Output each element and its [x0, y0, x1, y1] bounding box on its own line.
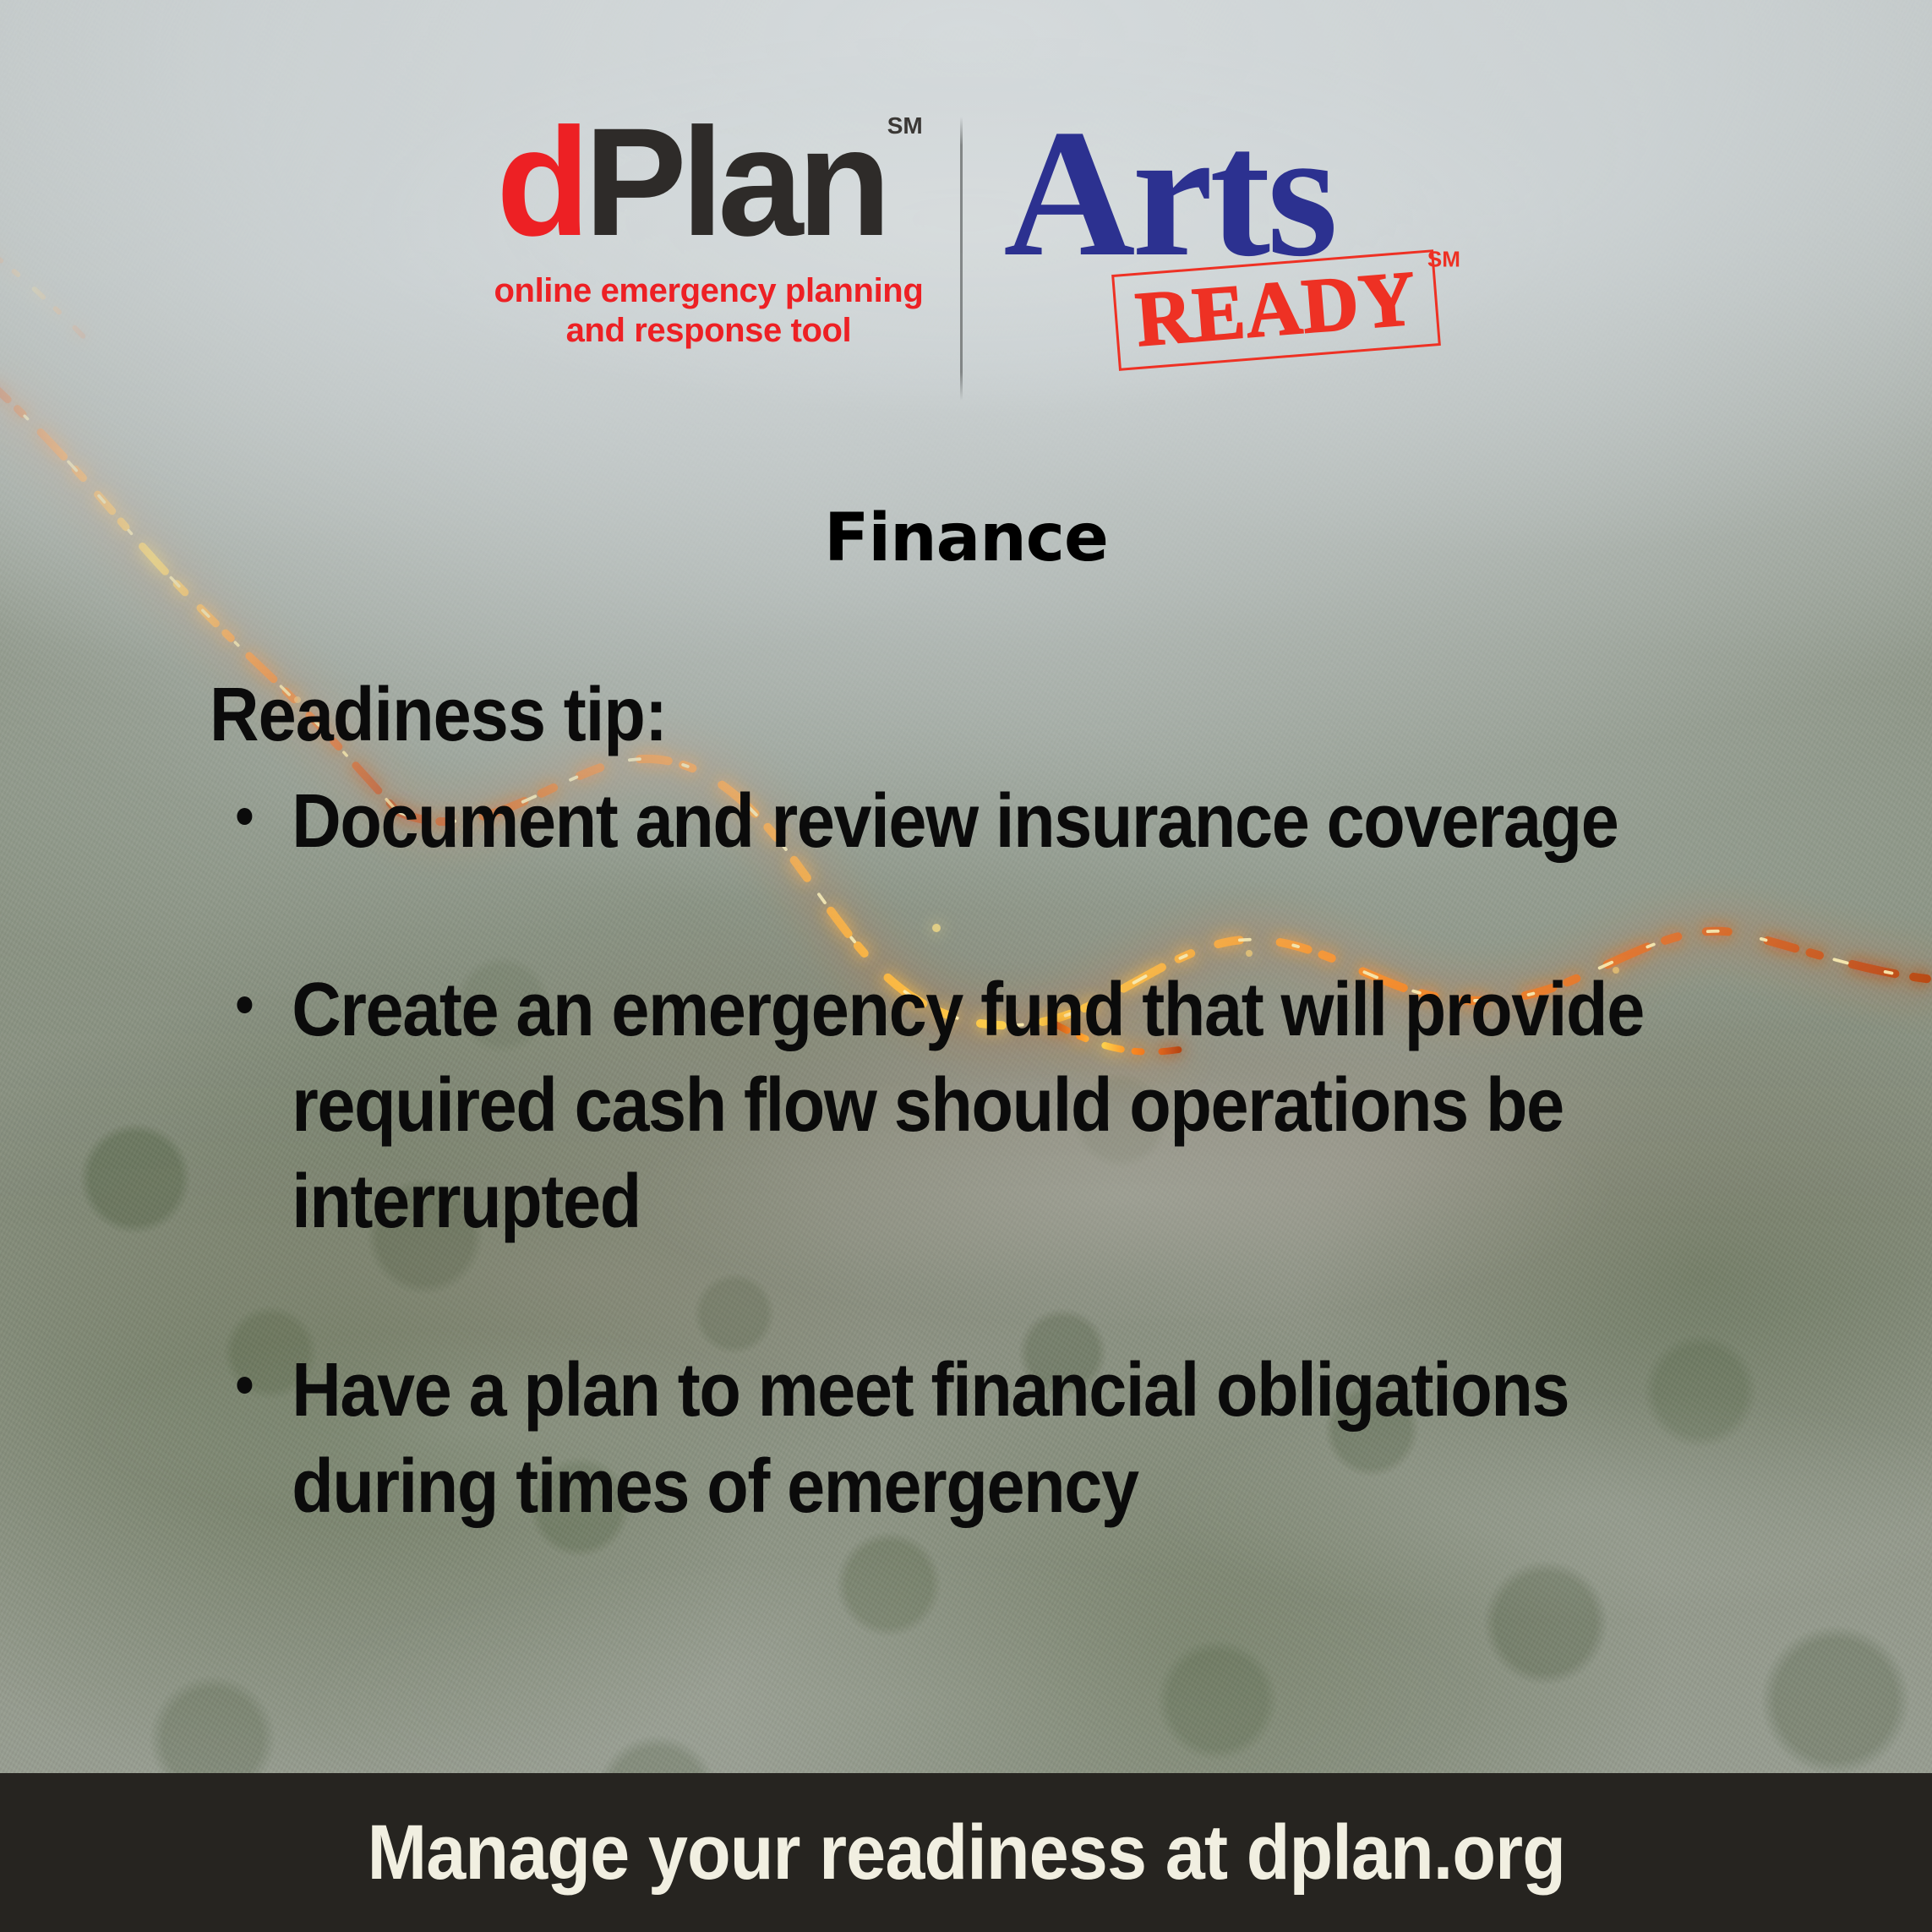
arts-wordmark: Arts — [1003, 112, 1438, 276]
dplan-letter-d: d — [496, 96, 584, 268]
readiness-tip-heading: Readiness tip: — [210, 676, 1668, 756]
dplan-wordmark: dPlanSM — [496, 108, 921, 256]
list-item: Create an emergency fund that will provi… — [210, 963, 1668, 1250]
dplan-tagline-line-2: and response tool — [494, 311, 924, 351]
tip-text: Create an emergency fund that will provi… — [292, 968, 1644, 1244]
readiness-tip-section: Readiness tip: Document and review insur… — [210, 676, 1831, 1535]
dplan-letters-plan: Plan — [584, 96, 885, 268]
list-item: Document and review insurance coverage — [210, 774, 1668, 870]
artsready-logo: Arts READY SM — [963, 108, 1438, 358]
dplan-tagline: online emergency planning and response t… — [494, 271, 924, 351]
dplan-logo: dPlanSM online emergency planning and re… — [494, 108, 961, 351]
list-item: Have a plan to meet financial obligation… — [210, 1343, 1668, 1535]
dplan-tagline-line-1: online emergency planning — [494, 271, 924, 311]
footer-bar: Manage your readiness at dplan.org — [0, 1773, 1932, 1932]
ready-wordmark: READY — [1133, 259, 1419, 359]
tip-text: Document and review insurance coverage — [292, 779, 1618, 864]
artsready-service-mark-icon: SM — [1427, 247, 1460, 273]
dplan-service-mark-icon: SM — [887, 112, 923, 139]
footer-cta-text: Manage your readiness at dplan.org — [367, 1809, 1564, 1897]
logo-lockup-row: dPlanSM online emergency planning and re… — [0, 108, 1932, 401]
tip-list: Document and review insurance coverage C… — [210, 774, 1831, 1535]
page-title: Finance — [0, 500, 1932, 576]
bullet-icon — [237, 808, 252, 825]
bullet-icon — [237, 1377, 252, 1394]
bullet-icon — [237, 996, 252, 1013]
tip-text: Have a plan to meet financial obligation… — [292, 1348, 1569, 1528]
